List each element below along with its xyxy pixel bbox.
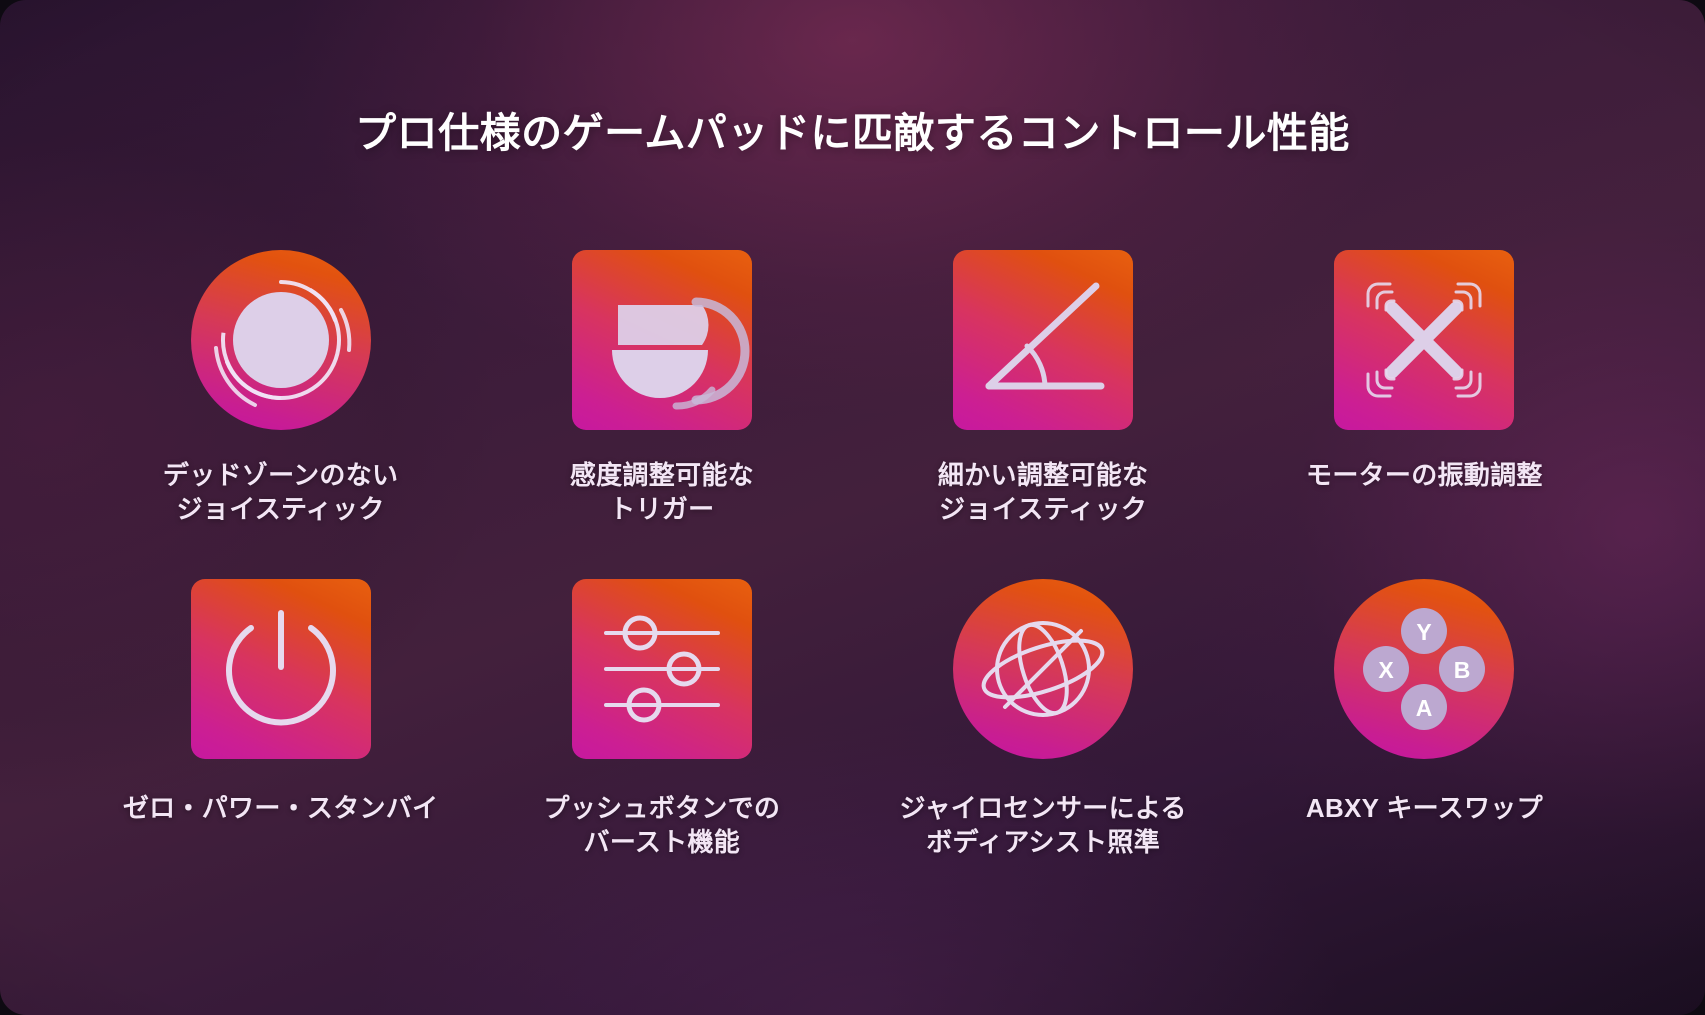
feature-label: ゼロ・パワー・スタンバイ [123, 791, 439, 825]
feature-card-motor-vibration[interactable]: モーターの振動調整 [1234, 250, 1615, 527]
feature-label-line1: デッドゾーンのない [163, 458, 398, 492]
feature-card-joystick-deadzone[interactable]: デッドゾーンのない ジョイスティック [90, 250, 471, 527]
abxy-button-b: B [1454, 657, 1471, 683]
feature-label-line1: ABXY キースワップ [1306, 791, 1543, 825]
fine-tune-angle-icon [953, 250, 1133, 430]
feature-label-line1: ゼロ・パワー・スタンバイ [123, 791, 439, 825]
feature-label-line2: トリガー [570, 492, 754, 526]
angle-glyph [953, 250, 1133, 430]
feature-label-line2: ジョイスティック [163, 492, 398, 526]
abxy-keyswap-icon: Y X B A [1334, 579, 1514, 759]
feature-label: ジャイロセンサーによる ボディアシスト照準 [900, 791, 1187, 860]
abxy-button-a: A [1416, 695, 1433, 721]
sliders-glyph [572, 579, 752, 759]
power-standby-icon [191, 579, 371, 759]
gyro-glyph [953, 579, 1133, 759]
feature-card-power-standby[interactable]: ゼロ・パワー・スタンバイ [90, 579, 471, 860]
feature-label: 細かい調整可能な ジョイスティック [938, 458, 1148, 527]
feature-label: 感度調整可能な トリガー [570, 458, 754, 527]
feature-grid: デッドゾーンのない ジョイスティック 感度調整可能な トリガー [0, 250, 1705, 859]
trigger-glyph [572, 250, 752, 430]
abxy-glyph: Y X B A [1334, 579, 1514, 759]
feature-label-line1: プッシュボタンでの [544, 791, 781, 825]
feature-label-line1: 細かい調整可能な [938, 458, 1148, 492]
vibration-x-glyph [1334, 250, 1514, 430]
joystick-deadzone-glyph [191, 250, 371, 430]
feature-card-trigger-sensitivity[interactable]: 感度調整可能な トリガー [471, 250, 852, 527]
joystick-deadzone-icon [191, 250, 371, 430]
trigger-sensitivity-icon [572, 250, 752, 430]
motor-vibration-icon [1334, 250, 1514, 430]
feature-card-abxy-keyswap[interactable]: Y X B A ABXY キースワップ [1234, 579, 1615, 860]
gyro-sensor-icon [953, 579, 1133, 759]
feature-label: デッドゾーンのない ジョイスティック [163, 458, 398, 527]
feature-label: プッシュボタンでの バースト機能 [544, 791, 781, 860]
turbo-burst-sliders-icon [572, 579, 752, 759]
power-glyph [191, 579, 371, 759]
page-title: プロ仕様のゲームパッドに匹敵するコントロール性能 [0, 99, 1705, 159]
feature-card-fine-tune-joystick[interactable]: 細かい調整可能な ジョイスティック [853, 250, 1234, 527]
abxy-button-y: Y [1417, 619, 1432, 645]
feature-grid-panel: プロ仕様のゲームパッドに匹敵するコントロール性能 デッドゾーンのない ジョイステ… [0, 0, 1705, 1015]
feature-label: モーターの振動調整 [1306, 458, 1543, 492]
feature-label-line1: モーターの振動調整 [1306, 458, 1543, 492]
feature-label-line1: 感度調整可能な [570, 458, 754, 492]
feature-label-line1: ジャイロセンサーによる [900, 791, 1187, 825]
feature-label: ABXY キースワップ [1306, 791, 1543, 825]
feature-label-line2: バースト機能 [544, 825, 781, 859]
abxy-button-x: X [1379, 657, 1395, 683]
feature-card-burst-function[interactable]: プッシュボタンでの バースト機能 [471, 579, 852, 860]
feature-card-gyro-sensor[interactable]: ジャイロセンサーによる ボディアシスト照準 [853, 579, 1234, 860]
feature-label-line2: ジョイスティック [938, 492, 1148, 526]
feature-label-line2: ボディアシスト照準 [900, 825, 1187, 859]
